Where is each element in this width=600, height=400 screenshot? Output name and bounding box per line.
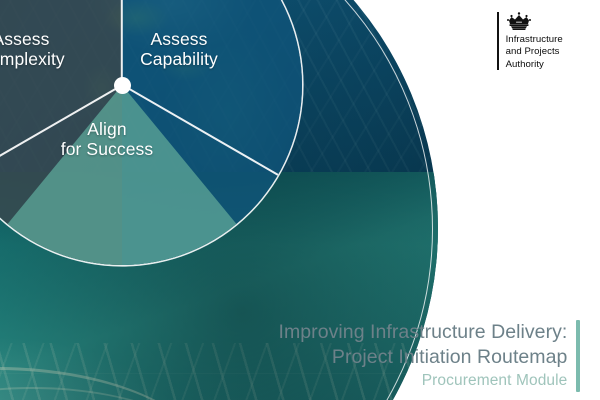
diagram-hub-dot — [114, 77, 131, 94]
logo-body: Infrastructure and Projects Authority — [506, 12, 563, 71]
title-subtitle: Procurement Module — [279, 369, 568, 392]
royal-crown-icon — [506, 12, 532, 31]
report-cover: Assess Complexity Assess Capability Alig… — [0, 0, 600, 400]
cover-title-block: Improving Infrastructure Delivery: Proje… — [279, 320, 580, 392]
title-texts: Improving Infrastructure Delivery: Proje… — [279, 320, 568, 392]
title-line-2: Project Initiation Routemap — [279, 345, 568, 369]
segment-label-align-for-success: Align for Success — [37, 120, 177, 160]
ipa-logo: Infrastructure and Projects Authority — [497, 12, 563, 71]
segment-label-assess-capability: Assess Capability — [114, 30, 244, 70]
title-accent-rule — [576, 320, 580, 392]
segment-label-assess-complexity: Assess Complexity — [0, 30, 86, 70]
title-line-1: Improving Infrastructure Delivery: — [279, 320, 568, 344]
logo-vertical-rule — [497, 12, 499, 70]
three-segment-diagram: Assess Complexity Assess Capability Alig… — [0, 0, 302, 265]
logo-text: Infrastructure and Projects Authority — [506, 34, 563, 71]
